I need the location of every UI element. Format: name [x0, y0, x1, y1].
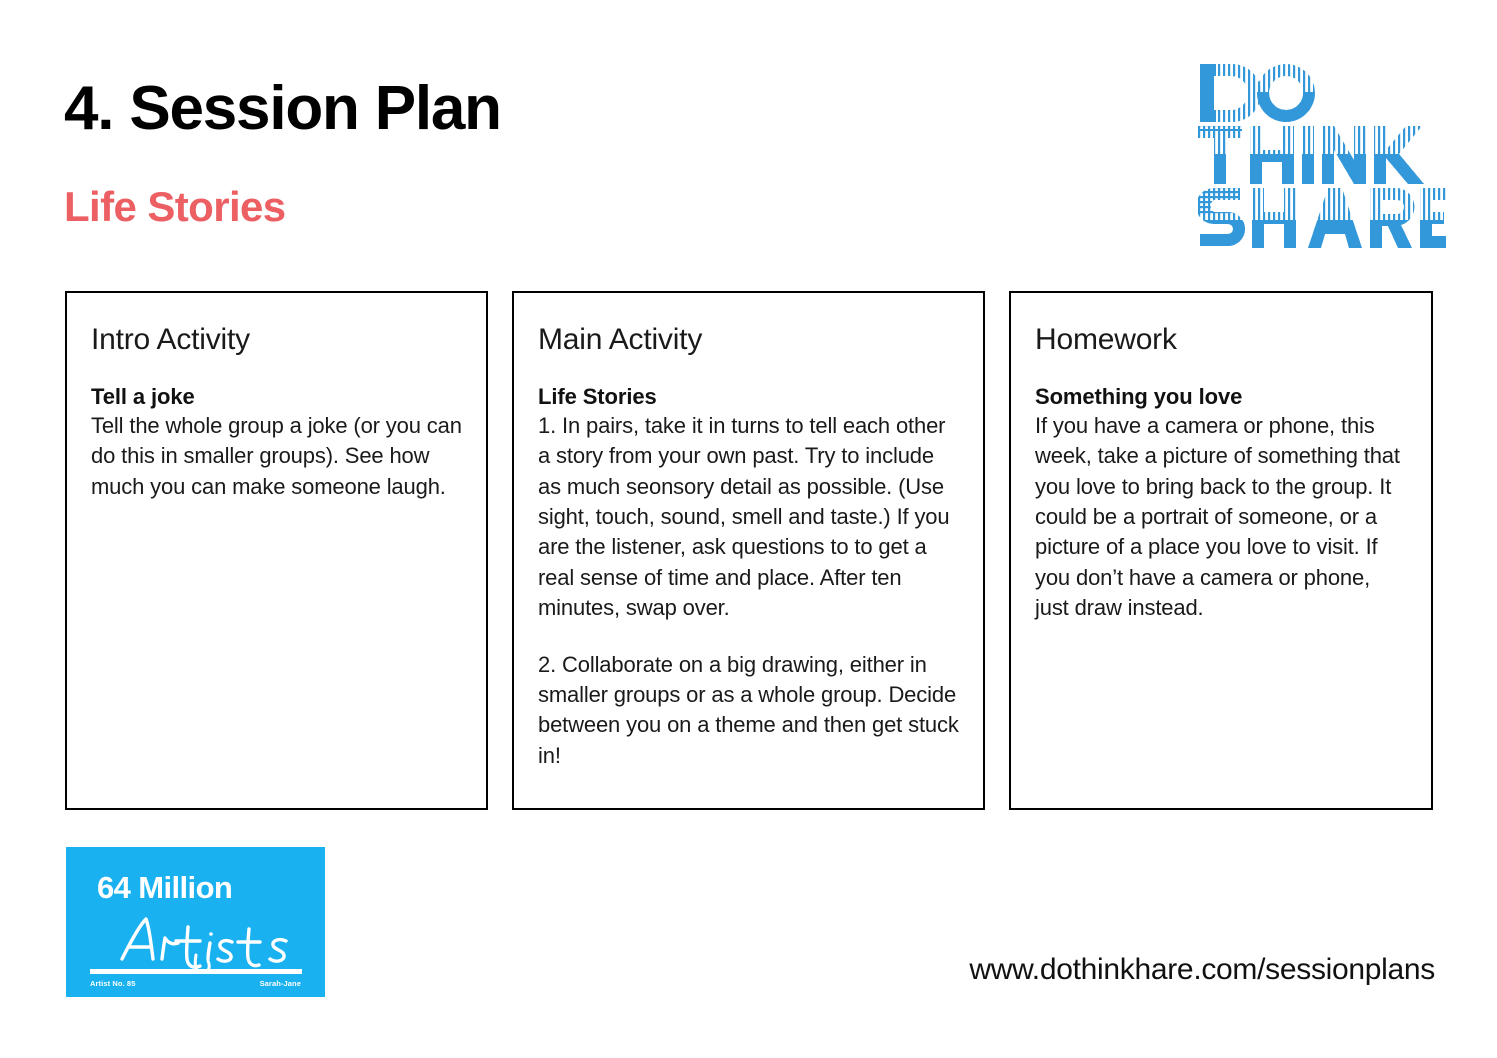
page-footer: 64 Million [0, 811, 1497, 1058]
page-header: 4. Session Plan Life Stories [0, 0, 1497, 285]
card-paragraph: Tell the whole group a joke (or you can … [91, 411, 462, 502]
card-title: Homework [1035, 323, 1407, 356]
card-heading: Tell a joke [91, 382, 462, 411]
artist-number-label: Artist No. 85 [90, 979, 135, 988]
page-title: 4. Session Plan [64, 78, 501, 140]
page-subtitle: Life Stories [64, 186, 286, 228]
card-homework: Homework Something you love If you have … [1009, 291, 1433, 810]
footer-url[interactable]: www.dothinkhare.com/sessionplans [969, 955, 1435, 985]
artist-name-label: Sarah-Jane [260, 979, 301, 988]
card-paragraph: 1. In pairs, take it in turns to tell ea… [538, 411, 959, 624]
logo-line-share [1198, 186, 1446, 250]
activity-cards: Intro Activity Tell a joke Tell the whol… [0, 291, 1497, 811]
artists-script-wordmark [118, 911, 298, 973]
card-heading: Life Stories [538, 382, 959, 411]
card-title: Main Activity [538, 323, 959, 356]
card-paragraph: If you have a camera or phone, this week… [1035, 411, 1407, 624]
card-title: Intro Activity [91, 323, 462, 356]
brand-title: 64 Million [97, 872, 232, 903]
card-intro-activity: Intro Activity Tell a joke Tell the whol… [65, 291, 488, 810]
card-heading: Something you love [1035, 382, 1407, 411]
do-think-share-logo [1198, 62, 1446, 254]
card-paragraph: 2. Collaborate on a big drawing, either … [538, 650, 959, 771]
64-million-artists-logo: 64 Million [66, 847, 325, 997]
card-main-activity: Main Activity Life Stories 1. In pairs, … [512, 291, 985, 810]
brand-divider [90, 969, 302, 974]
logo-line-think [1198, 124, 1446, 186]
logo-line-do [1198, 62, 1446, 124]
session-plan-page: 4. Session Plan Life Stories [0, 0, 1497, 1058]
